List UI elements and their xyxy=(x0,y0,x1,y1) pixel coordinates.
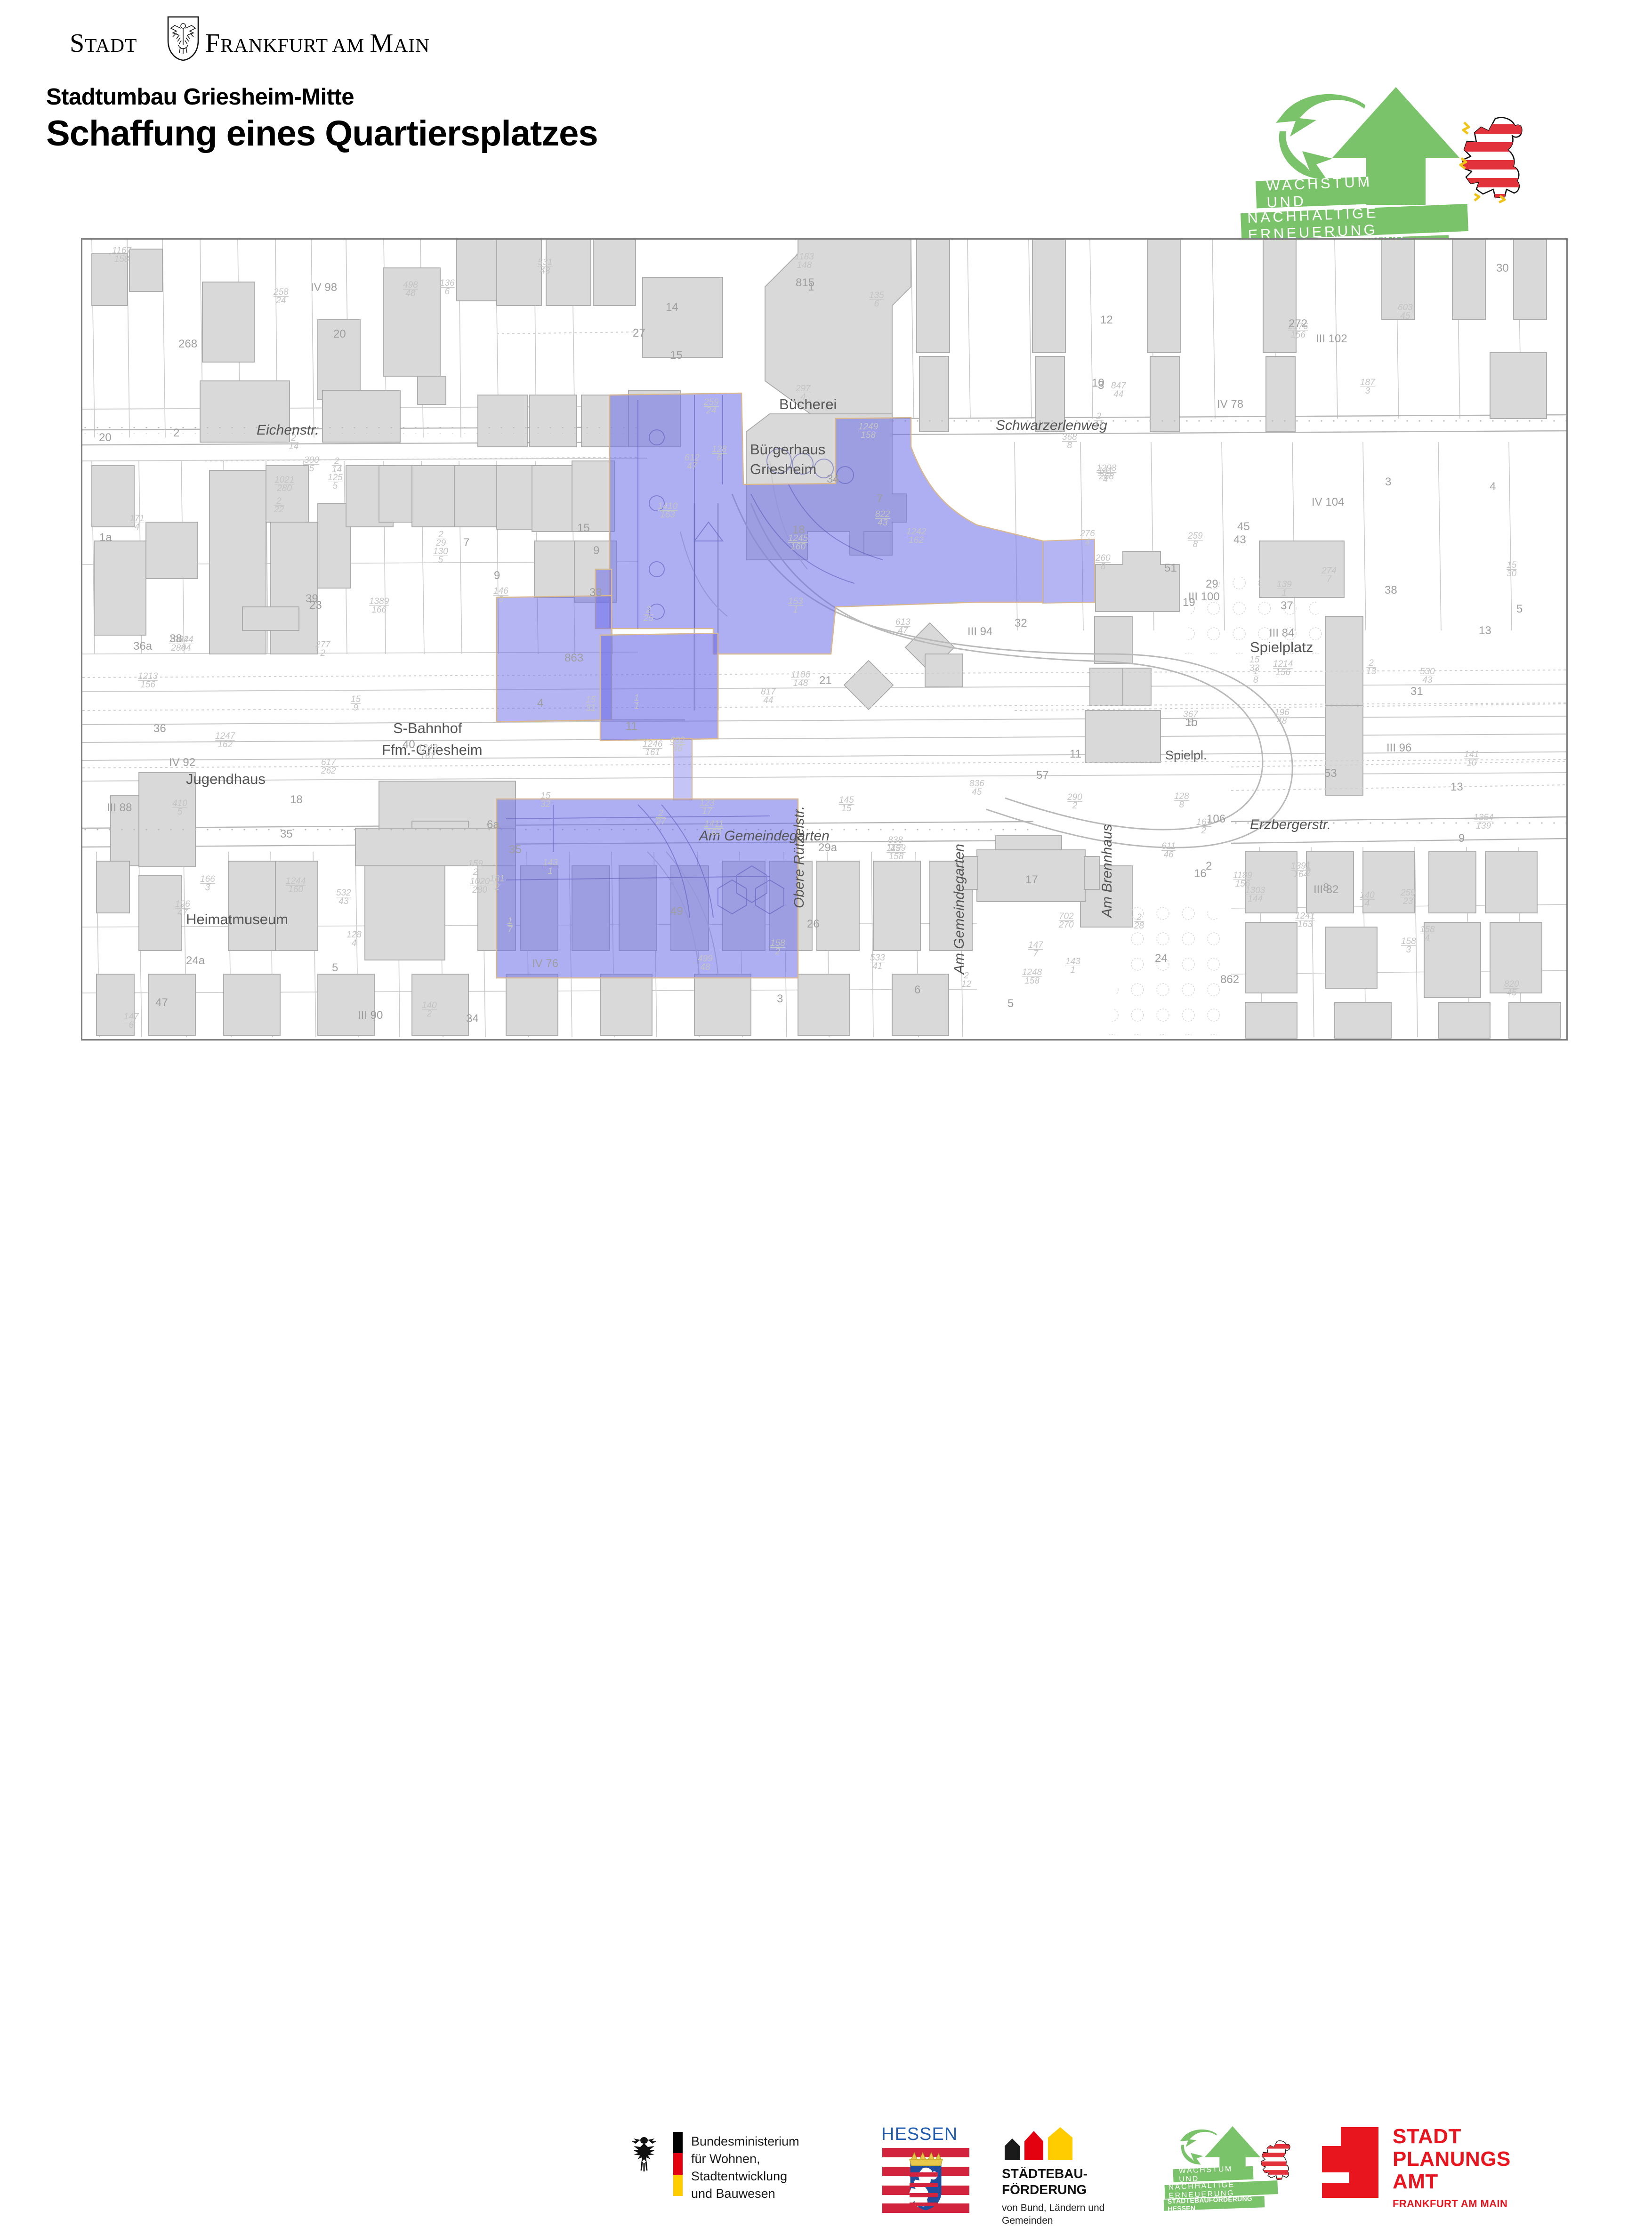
parcel-number: III 90 xyxy=(358,1009,383,1022)
parcel-number: 1247162 xyxy=(215,732,235,749)
parcel-number: 1189156 xyxy=(1233,871,1252,888)
parcel-number: 21 xyxy=(819,674,832,687)
street-label-eichenstr: Eichenstr. xyxy=(257,422,319,438)
stadtplanungsamt-logo: STADT PLANUNGS AMT FRANKFURT AM MAIN xyxy=(1322,2127,1567,2217)
hessen-state-logo: HESSEN xyxy=(881,2124,973,2214)
wachstum-small-line3: STÄDTEBAUFÖRDERUNG HESSEN xyxy=(1164,2196,1265,2211)
parcel-number: 1531 xyxy=(586,696,596,712)
map-drawing xyxy=(82,240,1566,1039)
parcel-number: 3 xyxy=(1385,476,1391,489)
poi-label-s-bahnhof: S-Bahnhof xyxy=(393,720,462,737)
page-title: Schaffung eines Quartiersplatzes xyxy=(46,113,598,154)
parcel-number: 45 xyxy=(1237,520,1250,533)
street-label-erzbergerstr: Erzbergerstr. xyxy=(1250,817,1331,833)
parcel-number: 17 xyxy=(508,917,513,934)
parcel-number: 18 xyxy=(290,793,303,807)
parcel-number: 3688 xyxy=(1062,433,1077,450)
parcel-number: 61146 xyxy=(1161,842,1176,859)
stadtplanungsamt-wordmark: STADT PLANUNGS AMT xyxy=(1393,2125,1511,2193)
parcel-number: 214 xyxy=(332,457,342,474)
parcel-number: 3 xyxy=(777,992,783,1006)
parcel-number: 12317 xyxy=(700,799,715,815)
parcel-number: 20 xyxy=(333,328,346,341)
parcel-number: 9 xyxy=(1459,832,1465,845)
parcel-number: 1663 xyxy=(200,875,215,892)
parcel-number: 3005 xyxy=(304,456,319,473)
parcel-number: 222 xyxy=(274,497,284,514)
parcel-number: 36 xyxy=(153,722,166,735)
parcel-number: 24 xyxy=(1155,952,1168,965)
sf-sub-line1: von Bund, Ländern und xyxy=(1002,2202,1104,2214)
project-subtitle: Stadtumbau Griesheim-Mitte xyxy=(46,84,598,110)
parcel-number: 25924 xyxy=(704,398,719,415)
parcel-number: 49948 xyxy=(698,955,713,971)
parcel-number: 1284 xyxy=(347,931,362,947)
parcel-number: 5 xyxy=(332,961,338,975)
parcel-number: 15 xyxy=(670,349,683,362)
parcel-number: 1366 xyxy=(440,279,455,296)
parcel-number: 1583 xyxy=(1401,937,1416,954)
parcel-number: 15 xyxy=(577,522,590,535)
bmwsb-line1: Bundesministerium xyxy=(691,2133,847,2150)
parcel-number: IV 92 xyxy=(169,756,195,769)
parcel-number: 268 xyxy=(178,338,197,351)
parcel-number: 60345 xyxy=(1398,304,1413,320)
parcel-number: 43 xyxy=(1233,533,1246,547)
parcel-number: 1592 xyxy=(468,860,483,876)
parcel-number: 34 xyxy=(466,1012,479,1025)
parcel-number: 19 xyxy=(1183,596,1195,609)
parcel-number: III 84 xyxy=(1269,627,1294,640)
parcel-number: 49848 xyxy=(403,281,418,298)
parcel-number: 1286 xyxy=(712,445,727,462)
parcel-number: 2608 xyxy=(1096,554,1111,571)
parcel-number: 1021280 xyxy=(274,476,294,492)
parcel-number: 227 xyxy=(656,809,666,826)
parcel-number: 2747 xyxy=(1322,567,1337,583)
parcel-number: 13 xyxy=(1479,624,1491,637)
parcel-number: IV 76 xyxy=(532,957,558,970)
parcel-number: 84744 xyxy=(1111,382,1126,398)
wachstum-logo-small: WACHSTUM UND NACHHALTIGE ERNEUERUNG STÄD… xyxy=(1163,2127,1318,2217)
parcel-number: 13 xyxy=(1451,781,1463,794)
parcel-number: 38 xyxy=(1385,584,1397,597)
parcel-number: 3676 xyxy=(1183,710,1198,727)
parcel-number: 83845 xyxy=(888,836,903,853)
page-header: STADT FRANKFURT AM MAIN Stadtumbau Gries… xyxy=(0,0,1652,221)
parcel-number: 1242162 xyxy=(906,528,926,544)
parcel-number: 5 xyxy=(1007,997,1014,1010)
parcel-number: 57 xyxy=(1036,769,1049,782)
parcel-number: III 94 xyxy=(967,625,992,638)
parcel-number: 26 xyxy=(807,918,820,931)
parcel-number: 2 xyxy=(173,427,179,440)
parcel-number: 1246161 xyxy=(643,740,662,757)
parcel-number: 1477 xyxy=(1028,941,1043,958)
parcel-number: 1582 xyxy=(770,939,785,956)
parcel-number: 23 xyxy=(309,599,322,612)
parcel-number: 7 xyxy=(877,492,883,506)
staedtebaufoerderung-logo: STÄDTEBAU- FÖRDERUNG von Bund, Ländern u… xyxy=(1002,2127,1143,2217)
parcel-number: 1303144 xyxy=(1245,887,1265,903)
parcel-number: 61247 xyxy=(685,454,700,470)
parcel-number: 1244160 xyxy=(286,877,306,894)
parcel-number: 11 xyxy=(1070,748,1081,761)
parcel-number: 229 xyxy=(436,531,446,547)
parcel-number: 213 xyxy=(1366,659,1376,676)
hessen-lion-flag-icon xyxy=(882,2147,969,2213)
parcel-number: 40 xyxy=(403,738,415,751)
parcel-number: 1245160 xyxy=(788,534,808,551)
parcel-number: 51 xyxy=(1164,562,1177,575)
parcel-number: 30 xyxy=(1496,262,1509,275)
parcel-number: 14515 xyxy=(839,796,854,813)
parcel-number: 38 xyxy=(169,632,182,646)
parcel-number: 29 xyxy=(1206,578,1218,591)
parcel-number: 211 xyxy=(1094,412,1104,429)
parcel-number: 1812 xyxy=(490,875,505,891)
parcel-number: 49 xyxy=(670,905,683,918)
parcel-number: 37 xyxy=(1281,599,1293,613)
page-footer: Bundesministerium für Wohnen, Stadtentwi… xyxy=(0,1059,1652,1168)
parcel-number: 25923 xyxy=(1401,889,1416,905)
parcel-number: 35 xyxy=(280,828,293,841)
parcel-number: 2902 xyxy=(1067,793,1082,810)
hessen-lion-icon xyxy=(1450,113,1528,205)
wachstum-small-line1: WACHSTUM UND xyxy=(1173,2166,1254,2183)
poi-label-heimatmuseum: Heimatmuseum xyxy=(186,911,288,928)
parcel-number: 6a xyxy=(487,818,500,831)
parcel-number: 863 xyxy=(564,652,583,665)
parcel-number: 6 xyxy=(914,984,920,997)
spa-line3: AMT xyxy=(1393,2171,1511,2193)
parcel-number: 20 xyxy=(99,431,112,444)
parcel-number: 1402 xyxy=(422,1001,437,1018)
parcel-number: 25824 xyxy=(274,288,289,305)
parcel-number: 159 xyxy=(351,695,361,712)
parcel-number: 9 xyxy=(593,544,599,557)
parcel-number: 83645 xyxy=(969,780,984,796)
three-houses-icon xyxy=(1002,2127,1082,2160)
stadtplanungsamt-subtitle: FRANKFURT AM MAIN xyxy=(1393,2198,1507,2210)
parcel-number: 60246 xyxy=(670,736,685,753)
parcel-number: 32 xyxy=(1015,617,1027,630)
parcel-number: 1463 xyxy=(493,587,508,604)
parcel-number: 1248158 xyxy=(1022,968,1042,985)
parcel-number: 9 xyxy=(494,569,500,582)
parcel-number: 81744 xyxy=(761,688,776,704)
bmwsb-line3: und Bauwesen xyxy=(691,2185,847,2203)
parcel-number: 12 xyxy=(1100,314,1113,327)
parcel-number: 214 xyxy=(289,434,298,451)
parcel-number: 1410163 xyxy=(658,502,677,519)
parcel-number: 11 xyxy=(626,720,637,733)
parcel-number: 272 xyxy=(1289,317,1307,331)
parcel-number: 1431 xyxy=(1065,958,1080,974)
parcel-number: 2772 xyxy=(315,641,330,657)
parcel-number: III 96 xyxy=(1386,742,1411,755)
parcel-number: 815 xyxy=(796,276,814,290)
poi-label-buergerhaus: Bürgerhaus xyxy=(750,441,825,458)
hessen-wordmark: HESSEN xyxy=(881,2124,973,2145)
street-label-obere-ruetzelstr: Obere Rützelstr. xyxy=(791,806,807,908)
parcel-number: 617262 xyxy=(321,758,336,775)
parcel-number: 4 xyxy=(1490,480,1496,493)
parcel-number: 53 xyxy=(1324,767,1337,780)
parcel-number: 82243 xyxy=(875,510,890,527)
poi-label-spielplatz: Spielplatz xyxy=(1250,639,1313,656)
street-label-am-brennhaus: Am Brennhaus xyxy=(1099,824,1115,918)
parcel-number: 1431 xyxy=(543,859,558,875)
parcel-number: 1213156 xyxy=(138,672,158,689)
parcel-number: 862 xyxy=(1220,973,1239,986)
spa-line2: PLANUNGS xyxy=(1393,2148,1511,2171)
parcel-number: 1a xyxy=(99,531,112,544)
parcel-number: 225 xyxy=(644,606,653,622)
city-of-frankfurt-logo: STADT FRANKFURT AM MAIN xyxy=(70,23,371,60)
parcel-number: 19648 xyxy=(1274,709,1289,725)
parcel-number: IV 104 xyxy=(1312,496,1344,509)
parcel-number: 1391 xyxy=(1277,581,1292,597)
street-label-am-gemeindegarten-vertical: Am Gemeindegarten xyxy=(951,844,967,974)
parcel-number: 11 xyxy=(634,694,639,710)
parcel-number: 1249158 xyxy=(858,423,878,439)
parcel-number: 1020280 xyxy=(470,878,490,894)
staedtebaufoerderung-title: STÄDTEBAU- FÖRDERUNG xyxy=(1002,2166,1088,2198)
sf-title-line1: STÄDTEBAU- xyxy=(1002,2166,1088,2182)
parcel-number: 1531 xyxy=(788,597,803,614)
parcel-number: 2974 xyxy=(796,385,811,401)
parcel-number: 1411163 xyxy=(704,820,724,837)
poi-label-griesheim: Griesheim xyxy=(750,461,816,478)
parcel-number: 27 xyxy=(633,327,645,340)
parcel-number: 106 xyxy=(1207,813,1225,826)
sf-title-line2: FÖRDERUNG xyxy=(1002,2182,1088,2198)
parcel-number: 1354139 xyxy=(1474,814,1493,830)
parcel-number: 17 xyxy=(1025,873,1038,887)
parcel-number: 1389166 xyxy=(369,597,389,614)
parcel-number: 1532 xyxy=(540,792,550,808)
parcel-number: III 102 xyxy=(1316,332,1347,346)
parcel-number: 16 xyxy=(1194,867,1207,880)
parcel-number: 53143 xyxy=(538,258,553,275)
bundesadler-eagle-icon xyxy=(626,2134,662,2175)
parcel-number: IV 78 xyxy=(1217,398,1243,411)
parcel-number: 1214156 xyxy=(1273,660,1293,677)
parcel-number: 1183148 xyxy=(795,253,814,269)
parcel-number: 4 xyxy=(537,697,543,710)
parcel-number: 4105 xyxy=(172,799,187,816)
parcel-number: 228 xyxy=(1134,913,1144,930)
parcel-number: 35 xyxy=(509,843,522,856)
staedtebaufoerderung-subtitle: von Bund, Ländern und Gemeinden xyxy=(1002,2202,1104,2227)
spa-block-mark-icon xyxy=(1322,2127,1378,2198)
spa-line1: STADT xyxy=(1393,2125,1511,2148)
bmwsb-line2: für Wohnen, Stadtentwicklung xyxy=(691,2150,847,2185)
city-logo-word-right: FRANKFURT AM MAIN xyxy=(205,28,430,58)
frankfurt-eagle-shield-icon xyxy=(166,16,200,61)
parcel-number: 53341 xyxy=(870,954,885,970)
city-logo-word-left: STADT xyxy=(70,28,137,58)
parcel-number: 1530 xyxy=(1507,561,1516,578)
parcel-number: III 82 xyxy=(1314,883,1338,896)
parcel-number: 1255 xyxy=(328,474,343,490)
parcel-number: 33 xyxy=(589,586,602,599)
parcel-number: 1476 xyxy=(124,1013,139,1029)
parcel-number: 34 xyxy=(827,473,839,486)
parcel-number: 29a xyxy=(818,841,837,855)
parcel-number: 61347 xyxy=(895,618,911,635)
parcel-number: 31 xyxy=(1410,685,1423,698)
parcel-number: III 88 xyxy=(107,801,132,815)
parcel-number: 5 xyxy=(1516,603,1523,616)
parcel-number: 1404 xyxy=(1360,891,1375,908)
title-block: Stadtumbau Griesheim-Mitte Schaffung ein… xyxy=(46,84,598,154)
parcel-number: 212 xyxy=(961,972,971,988)
parcel-number: 12 xyxy=(1305,861,1311,878)
parcel-number: 1714 xyxy=(129,515,145,531)
parcel-number: 7 xyxy=(463,536,469,549)
hessen-lion-icon-small xyxy=(1255,2138,1293,2183)
parcel-number: 1106148 xyxy=(791,671,810,687)
parcel-number: 1167158 xyxy=(112,247,131,263)
parcel-number: 1584 xyxy=(1420,926,1435,942)
parcel-number: 82045 xyxy=(1504,980,1519,997)
parcel-number: 14110 xyxy=(1464,750,1479,767)
cadastral-map[interactable]: Eichenstr. Schwarzerlenweg Am Gemeindega… xyxy=(81,238,1568,1041)
parcel-number: 1356 xyxy=(869,291,884,308)
street-label-schwarzerlenweg: Schwarzerlenweg xyxy=(996,418,1107,434)
parcel-number: 24a xyxy=(186,954,205,968)
parcel-number: 19647 xyxy=(175,900,190,917)
parcel-number: 3 xyxy=(1098,379,1104,392)
poi-label-spielpl: Spielpl. xyxy=(1165,748,1207,763)
parcel-number: 702270 xyxy=(1059,912,1074,929)
parcel-number: 53043 xyxy=(1420,668,1435,684)
parcel-number: 18 xyxy=(1253,668,1258,684)
sf-sub-line2: Gemeinden xyxy=(1002,2214,1104,2227)
parcel-number: 1298268 xyxy=(1096,464,1116,481)
parcel-number: 2598 xyxy=(1188,532,1203,549)
parcel-number: 1241163 xyxy=(1295,912,1315,928)
parcel-number: 1873 xyxy=(1360,379,1375,395)
parcel-number: IV 98 xyxy=(311,281,337,294)
parcel-number: 2 xyxy=(1206,860,1212,873)
parcel-number: 53243 xyxy=(336,889,351,905)
parcel-number: 14 xyxy=(666,301,678,314)
german-flag-bar-icon xyxy=(673,2132,683,2196)
poi-label-jugendhaus: Jugendhaus xyxy=(186,771,266,788)
parcel-number: 1305 xyxy=(433,548,448,564)
parcel-number: 1288 xyxy=(1174,792,1189,809)
parcel-number: 2764 xyxy=(1080,530,1095,546)
parcel-number: 36a xyxy=(133,640,152,653)
bmwsb-logo: Bundesministerium für Wohnen, Stadtentwi… xyxy=(626,2127,847,2212)
parcel-number: 47 xyxy=(155,996,168,1009)
parcel-number: 1243161 xyxy=(418,744,437,760)
bmwsb-text: Bundesministerium für Wohnen, Stadtentwi… xyxy=(691,2133,847,2203)
